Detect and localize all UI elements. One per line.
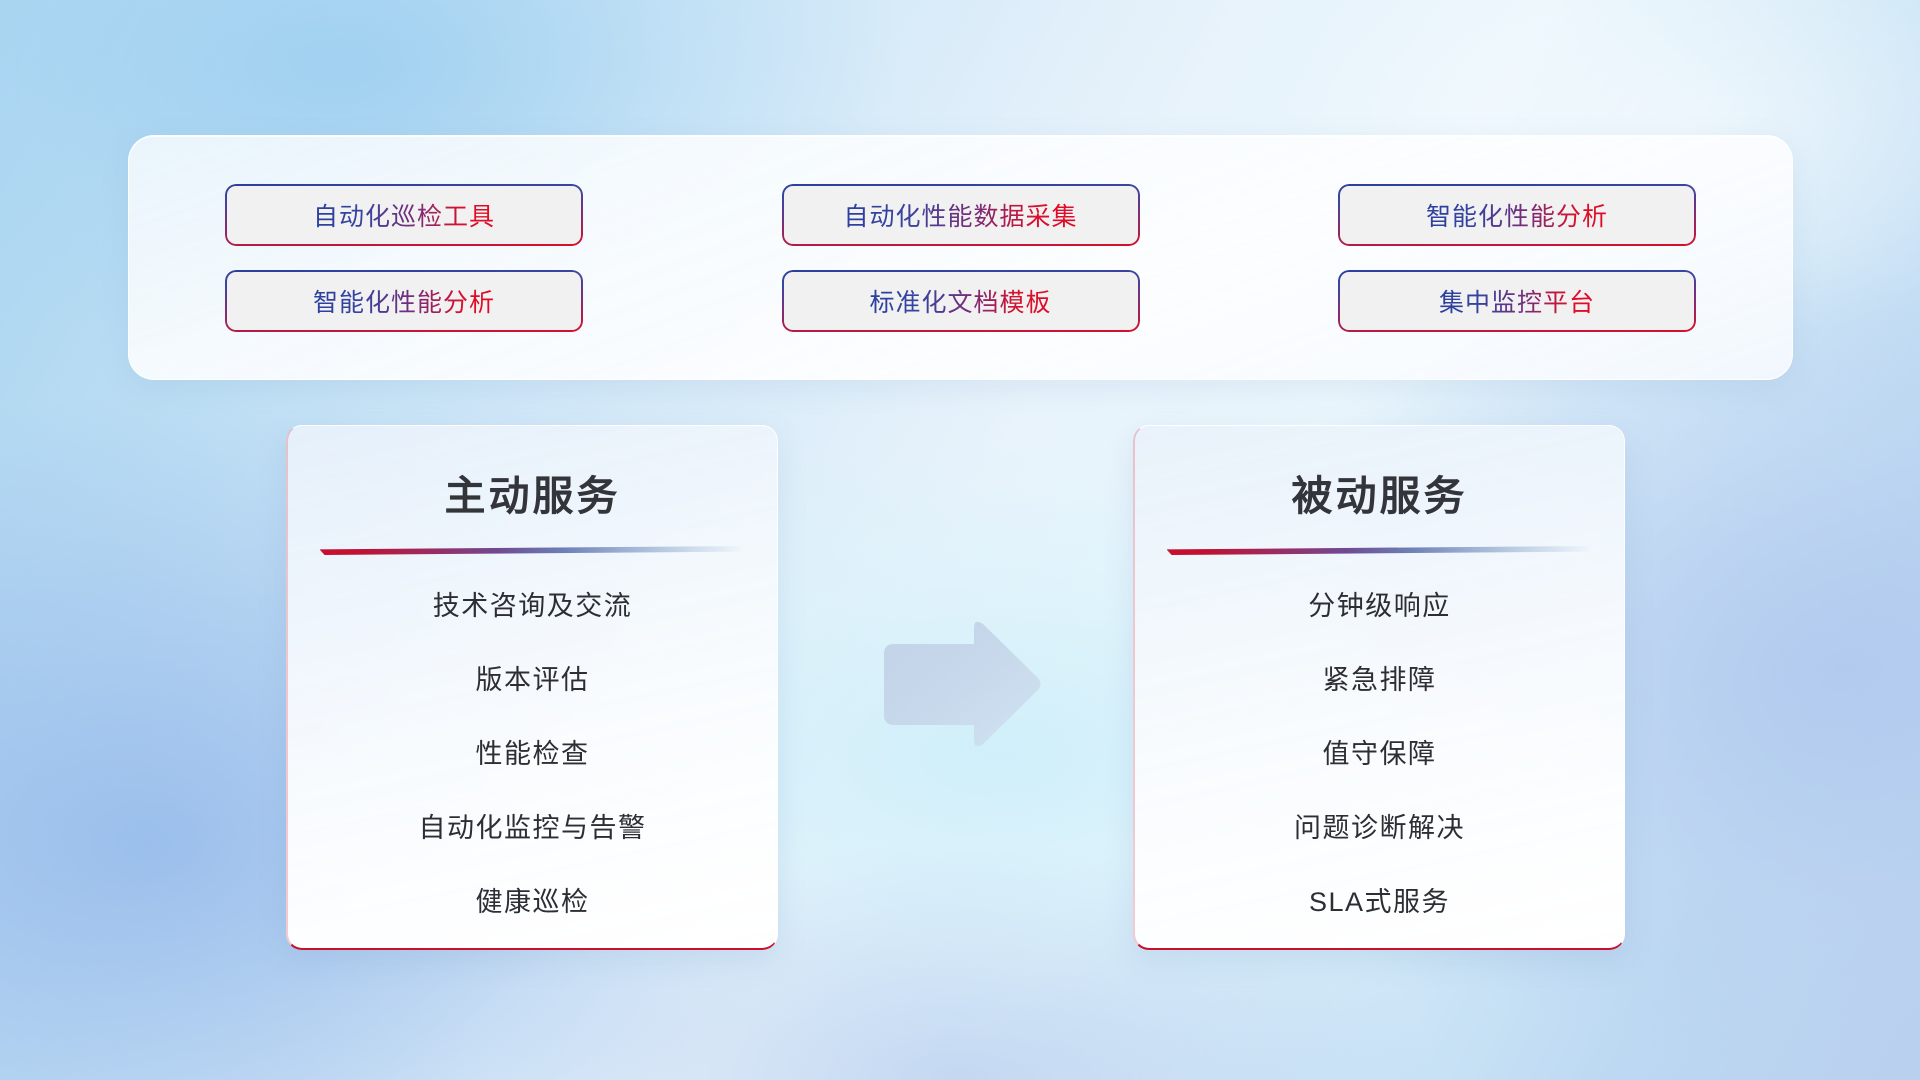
- capabilities-row-2: 智能化性能分析 标准化文档模板 集中监控平台: [129, 270, 1792, 332]
- capability-pill-label: 智能化性能分析: [1426, 197, 1608, 233]
- card-title: 主动服务: [288, 462, 777, 522]
- capabilities-panel: 自动化巡检工具 自动化性能数据采集 智能化性能分析 智能化性能分析 标准化文档模…: [128, 135, 1793, 380]
- capability-pill-label: 自动化巡检工具: [313, 197, 495, 233]
- card-list-item: SLA式服务: [1309, 889, 1450, 916]
- card-list-item: 自动化监控与告警: [419, 815, 647, 842]
- card-title: 被动服务: [1135, 462, 1624, 522]
- card-list-item: 技术咨询及交流: [433, 593, 633, 620]
- capability-pill[interactable]: 自动化巡检工具: [225, 184, 583, 246]
- capability-pill-label: 集中监控平台: [1439, 283, 1595, 319]
- card-list-item: 值守保障: [1323, 741, 1437, 768]
- card-list-item: 性能检查: [476, 741, 590, 768]
- capability-pill-label: 智能化性能分析: [313, 283, 495, 319]
- card-list-item: 问题诊断解决: [1294, 815, 1465, 842]
- card-list-item: 分钟级响应: [1308, 593, 1451, 620]
- card-title-divider: [1167, 546, 1593, 555]
- card-item-list: 技术咨询及交流 版本评估 性能检查 自动化监控与告警 健康巡检: [288, 593, 777, 916]
- card-list-item: 版本评估: [476, 667, 590, 694]
- card-item-list: 分钟级响应 紧急排障 值守保障 问题诊断解决 SLA式服务: [1135, 593, 1624, 916]
- reactive-service-card: 被动服务 分钟级响应 紧急排障 值守保障 问题诊断解决 SLA式服务: [1133, 425, 1625, 950]
- capabilities-row-1: 自动化巡检工具 自动化性能数据采集 智能化性能分析: [129, 184, 1792, 246]
- proactive-service-card: 主动服务 技术咨询及交流 版本评估 性能检查 自动化监控与告警 健康巡检: [286, 425, 778, 950]
- right-arrow-icon: [872, 616, 1044, 754]
- capability-pill[interactable]: 标准化文档模板: [782, 270, 1140, 332]
- card-title-divider: [320, 546, 746, 555]
- card-list-item: 紧急排障: [1323, 667, 1437, 694]
- card-list-item: 健康巡检: [476, 889, 590, 916]
- capability-pill[interactable]: 智能化性能分析: [1338, 184, 1696, 246]
- capability-pill-label: 自动化性能数据采集: [843, 197, 1077, 233]
- capability-pill[interactable]: 自动化性能数据采集: [782, 184, 1140, 246]
- capability-pill[interactable]: 集中监控平台: [1338, 270, 1696, 332]
- capability-pill[interactable]: 智能化性能分析: [225, 270, 583, 332]
- capability-pill-label: 标准化文档模板: [869, 283, 1051, 319]
